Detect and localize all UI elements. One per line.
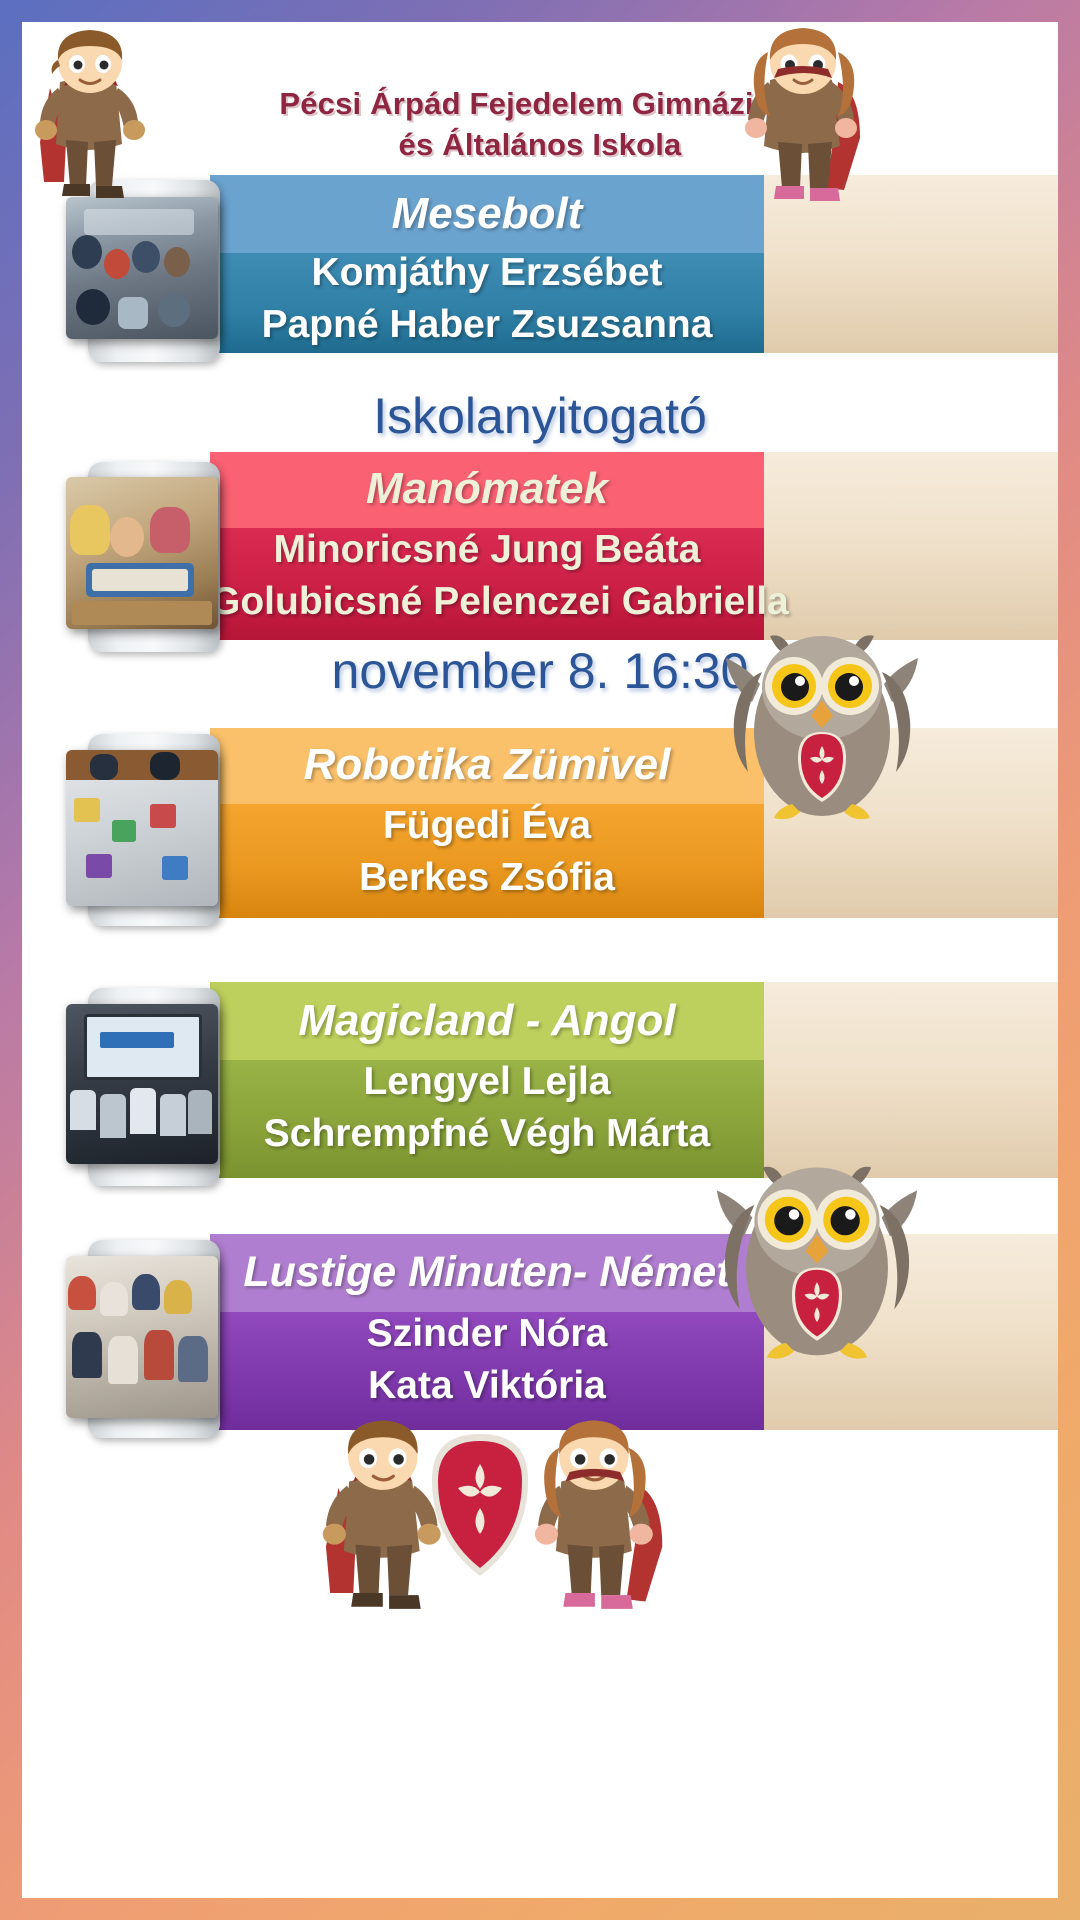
knight-boy-icon xyxy=(30,22,160,202)
shield-icon xyxy=(420,1430,540,1580)
poster-page: Pécsi Árpád Fejedelem Gimnázium és Által… xyxy=(22,22,1058,1898)
program-teacher: Fügedi Éva xyxy=(210,804,764,848)
program-band-manomatek: Manómatek Minoricsné Jung Beáta Golubics… xyxy=(210,452,764,640)
program-teacher: Golubicsné Pelenczei Gabriella xyxy=(210,580,764,624)
program-teacher: Szinder Nóra xyxy=(210,1312,764,1356)
program-teacher: Lengyel Lejla xyxy=(210,1060,764,1104)
page-title: Iskolanyitogató xyxy=(22,387,1058,445)
program-teacher: Kata Viktória xyxy=(210,1364,764,1408)
children-with-board-game-photo xyxy=(66,477,218,629)
program-teacher: Komjáthy Erzsébet xyxy=(210,251,764,295)
knight-girl-icon xyxy=(734,22,874,202)
program-title: Manómatek xyxy=(210,464,764,514)
program-title: Lustige Minuten- Német xyxy=(210,1248,764,1297)
robotics-floor-mat-photo xyxy=(66,750,218,906)
program-title: Magicland - Angol xyxy=(210,996,764,1046)
owl-icon xyxy=(712,1132,922,1372)
program-teacher: Schrempfné Végh Márta xyxy=(210,1112,764,1156)
program-band-lustige-minuten: Lustige Minuten- Német Szinder Nóra Kata… xyxy=(210,1234,764,1430)
knight-girl-icon xyxy=(522,1412,672,1612)
program-teacher: Minoricsné Jung Beáta xyxy=(210,528,764,572)
program-band-robotika: Robotika Zümivel Fügedi Éva Berkes Zsófi… xyxy=(210,728,764,918)
program-band-mesebolt: Mesebolt Komjáthy Erzsébet Papné Haber Z… xyxy=(210,175,764,353)
owl-icon xyxy=(722,602,922,832)
program-title: Mesebolt xyxy=(210,189,764,239)
program-title: Robotika Zümivel xyxy=(210,740,764,790)
german-class-group-photo xyxy=(66,1256,218,1418)
poster-root: Pécsi Árpád Fejedelem Gimnázium és Által… xyxy=(0,0,1080,1920)
english-class-smartboard-photo xyxy=(66,1004,218,1164)
program-band-magicland: Magicland - Angol Lengyel Lejla Schrempf… xyxy=(210,982,764,1178)
program-teacher: Berkes Zsófia xyxy=(210,856,764,900)
program-teacher: Papné Haber Zsuzsanna xyxy=(210,303,764,347)
classroom-activity-photo xyxy=(66,197,218,339)
